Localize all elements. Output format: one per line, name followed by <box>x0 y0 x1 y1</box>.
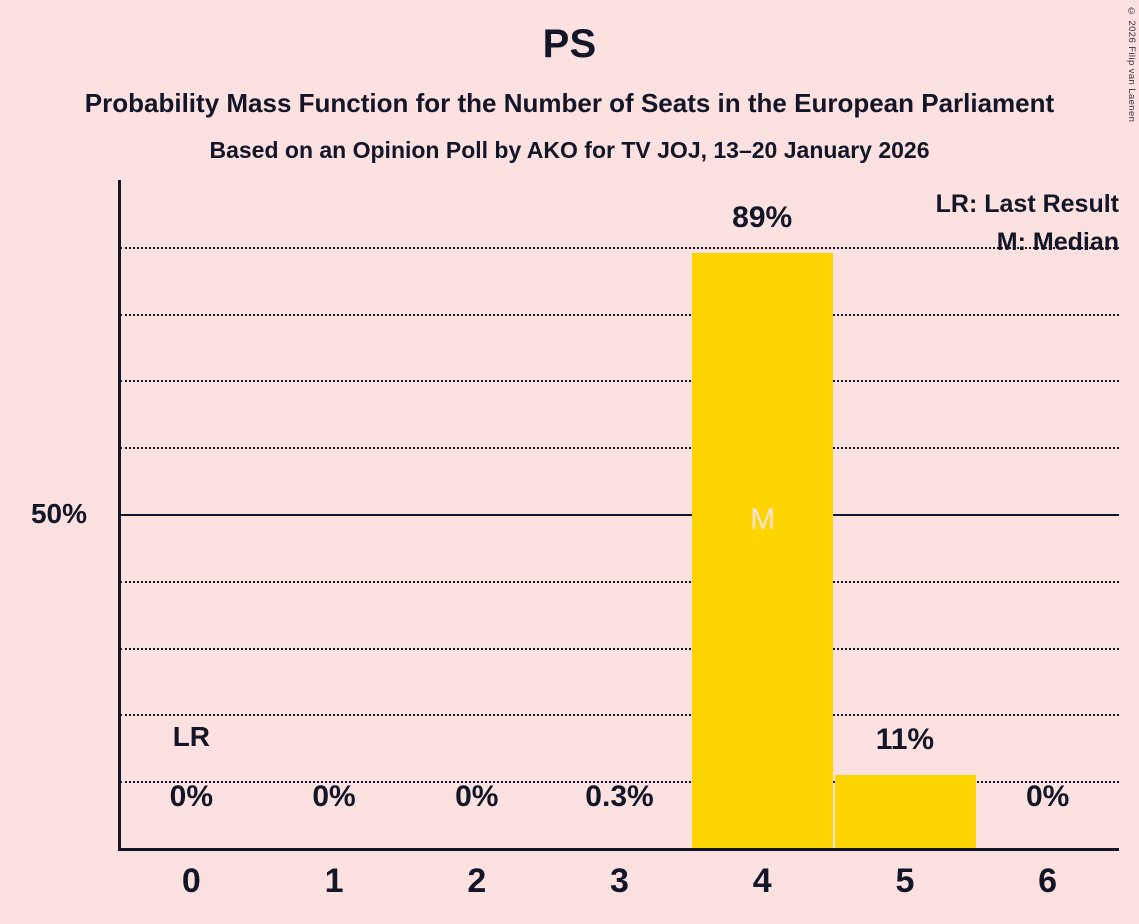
copyright-notice: © 2026 Filip van Laenen <box>1126 6 1137 122</box>
bar-value-label-4: 89% <box>691 201 834 235</box>
bar-value-label-5: 11% <box>834 723 977 757</box>
chart-subtitle: Probability Mass Function for the Number… <box>0 88 1139 119</box>
gridline-40 <box>120 581 1119 583</box>
x-axis-labels: 0123456 <box>120 862 1119 922</box>
chart-caption: Based on an Opinion Poll by AKO for TV J… <box>0 137 1139 164</box>
x-axis-tick-1: 1 <box>263 862 406 901</box>
gridline-90 <box>120 247 1119 249</box>
gridline-30 <box>120 648 1119 650</box>
gridline-80 <box>120 314 1119 316</box>
x-axis-tick-2: 2 <box>405 862 548 901</box>
bar-value-label-2: 0% <box>405 780 548 814</box>
gridline-50 <box>120 514 1119 516</box>
bar-value-label-3: 0.3% <box>548 780 691 814</box>
gridline-70 <box>120 380 1119 382</box>
gridline-60 <box>120 447 1119 449</box>
gridline-20 <box>120 714 1119 716</box>
bar-value-label-1: 0% <box>263 780 406 814</box>
x-axis-tick-6: 6 <box>976 862 1119 901</box>
x-axis-tick-5: 5 <box>834 862 977 901</box>
plot-area: 50% M 0%LR0%0%0.3%89%11%0% <box>120 180 1119 848</box>
last-result-marker: LR <box>120 721 263 753</box>
x-axis-tick-3: 3 <box>548 862 691 901</box>
chart-root: PS Probability Mass Function for the Num… <box>0 0 1139 924</box>
x-axis-tick-0: 0 <box>120 862 263 901</box>
x-axis-tick-4: 4 <box>691 862 834 901</box>
x-axis-line <box>118 848 1119 851</box>
bar-5 <box>835 775 976 848</box>
y-axis-tick-label: 50% <box>0 498 87 530</box>
bar-value-label-6: 0% <box>976 780 1119 814</box>
median-marker: M <box>692 503 833 537</box>
bar-4: M <box>692 253 833 848</box>
bar-value-label-0: 0% <box>120 780 263 814</box>
page-title: PS <box>0 22 1139 67</box>
